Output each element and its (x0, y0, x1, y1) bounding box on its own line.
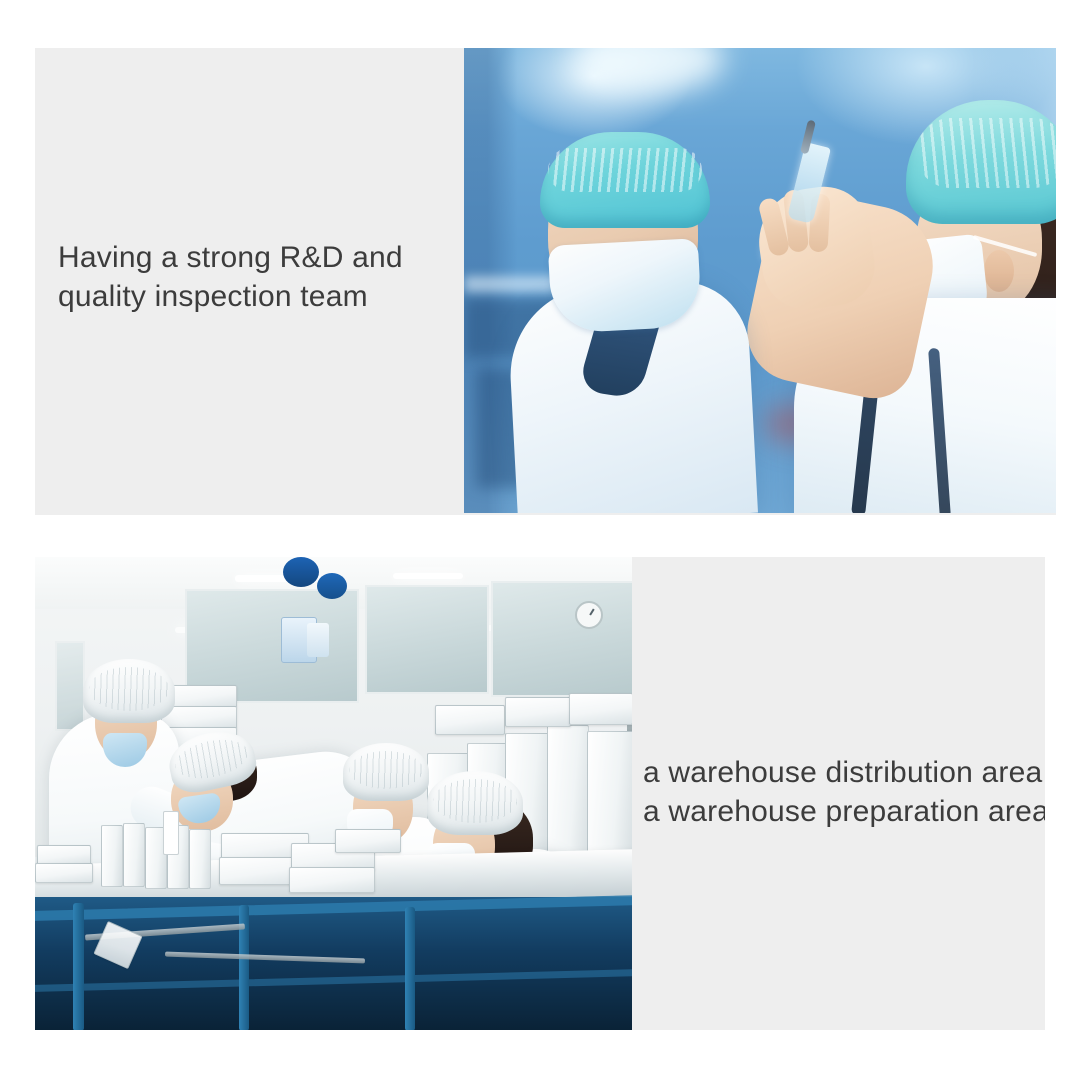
table-leg-3 (405, 907, 415, 1030)
top-caption-line-1: Having a strong R&D and (58, 238, 403, 277)
table-leg-1 (73, 903, 84, 1030)
wall-notice-board-2 (307, 623, 329, 657)
top-feature-block: Having a strong R&D and quality inspecti… (35, 48, 1056, 515)
lab-worker-right-ear (984, 250, 1014, 292)
blue-circular-sign (283, 557, 319, 587)
cleanroom-window-2 (365, 585, 489, 694)
lab-quality-inspection-photo (464, 48, 1056, 513)
cleanroom-window-3 (491, 581, 632, 697)
blue-circular-sign-2 (317, 573, 347, 599)
cleanroom-window-4 (55, 641, 85, 731)
warehouse-packing-photo (35, 557, 632, 1030)
top-caption-line-2: quality inspection team (58, 277, 403, 316)
bottom-caption-line-1: a warehouse distribution area (643, 753, 1045, 792)
table-carton-upright-5 (189, 829, 211, 889)
carton-right-top-2 (505, 697, 571, 727)
warehouse-worker-3-hairnet (343, 743, 429, 801)
ceiling-light-2 (393, 573, 463, 579)
bottom-caption-line-2: a warehouse preparation area (643, 792, 1045, 831)
table-carton-7 (335, 829, 401, 853)
table-carton-upright-2 (123, 823, 145, 887)
bottom-feature-block: a warehouse distribution area a warehous… (35, 557, 1045, 1030)
carton-right-top-1 (435, 705, 505, 735)
warehouse-worker-1-hairnet (83, 659, 175, 723)
table-carton-2 (35, 863, 93, 883)
carton-right-top-3 (569, 693, 632, 725)
table-carton-1 (37, 845, 91, 865)
top-caption: Having a strong R&D and quality inspecti… (58, 238, 403, 316)
table-bottle (163, 811, 179, 855)
table-carton-upright-1 (101, 825, 123, 887)
wall-clock (575, 601, 603, 629)
bottom-caption: a warehouse distribution area a warehous… (643, 753, 1045, 831)
table-carton-6 (289, 867, 375, 893)
warehouse-worker-4-hairnet (427, 771, 523, 835)
